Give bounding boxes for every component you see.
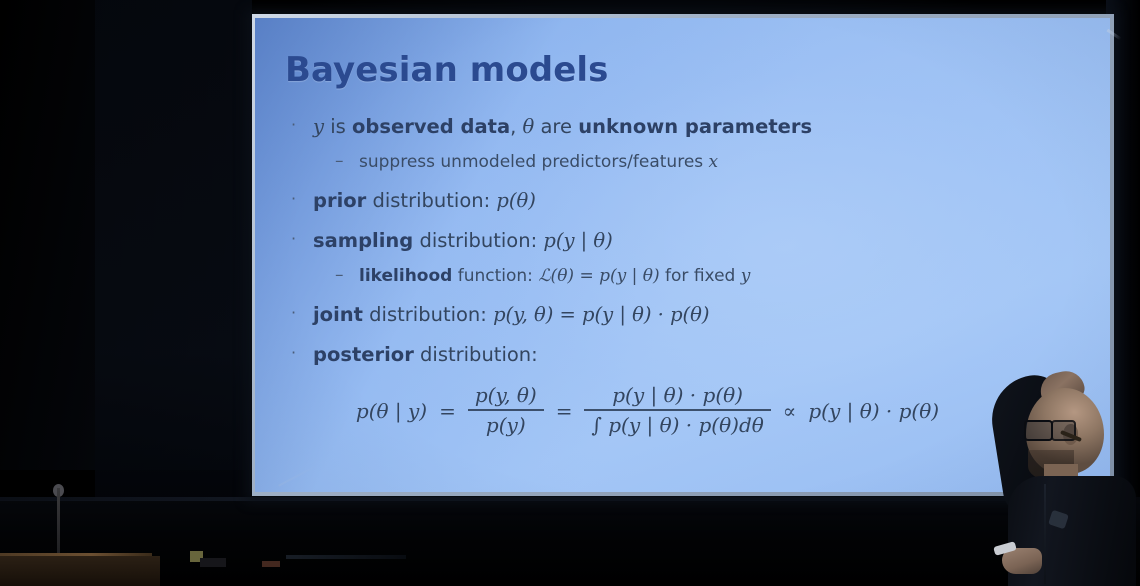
slide-title: Bayesian models: [285, 52, 1070, 89]
text-is: is: [324, 115, 352, 138]
bullet-marker-dot: ·: [291, 189, 296, 209]
bullet-marker-dash: –: [335, 151, 344, 172]
fraction-bar: [468, 409, 544, 411]
bullet-marker-dash: –: [335, 265, 344, 286]
formula-likelihood: ℒ(θ) = p(y | θ): [538, 266, 659, 286]
stage-ledge: [286, 555, 406, 559]
symbol-theta: θ: [523, 115, 535, 138]
proportional-sign: ∝: [782, 399, 798, 423]
bayes-theorem-equation: p(θ | y) = p(y, θ) p(y) = p(y | θ) · p(θ…: [285, 384, 1070, 438]
equation-lhs: p(θ | y): [356, 399, 427, 423]
symbol-x: x: [709, 152, 719, 172]
bullet-marker-dot: ·: [291, 343, 296, 363]
equals-sign-1: =: [438, 399, 457, 423]
stage-wall-panel: [95, 0, 250, 505]
jacket-zipper: [1044, 484, 1046, 584]
text-comma: ,: [510, 115, 522, 138]
text-are: are: [534, 115, 578, 138]
presentation-slide: Bayesian models · y is observed data, θ …: [255, 18, 1110, 492]
symbol-y: y: [313, 115, 324, 138]
glasses-lens-left: [1024, 420, 1053, 441]
subbullet-likelihood-function: – likelihood function: ℒ(θ) = p(y | θ) f…: [285, 266, 1070, 287]
equals-sign-2: =: [555, 399, 574, 423]
text-suppress: suppress unmodeled predictors/features: [359, 152, 709, 172]
formula-p-theta: p(θ): [496, 189, 535, 212]
slide-bullet-list: · y is observed data, θ are unknown para…: [285, 115, 1070, 367]
stage-floor: [0, 500, 1140, 586]
text-sampling: sampling: [313, 229, 413, 252]
fraction-likelihood-prior-over-integral: p(y | θ) · p(θ) ∫ p(y | θ) · p(θ)dθ: [584, 384, 770, 438]
subbullet-suppress-predictors: – suppress unmodeled predictors/features…: [285, 152, 1070, 173]
bullet-joint-distribution: · joint distribution: p(y, θ) = p(y | θ)…: [285, 303, 1070, 327]
text-likelihood: likelihood: [359, 266, 452, 286]
fraction-denominator: ∫ p(y | θ) · p(θ)dθ: [584, 411, 770, 438]
formula-joint: p(y, θ) = p(y | θ) · p(θ): [493, 303, 709, 326]
text-distribution: distribution:: [413, 229, 543, 252]
bullet-marker-dot: ·: [291, 229, 296, 249]
text-distribution: distribution:: [366, 189, 496, 212]
fraction-bar: [584, 409, 770, 411]
text-posterior: posterior: [313, 343, 414, 366]
formula-p-y-given-theta: p(y | θ): [543, 229, 612, 252]
fraction-denominator: p(y): [479, 411, 533, 438]
text-prior: prior: [313, 189, 366, 212]
stage-table: [0, 556, 160, 586]
equation-rhs: p(y | θ) · p(θ): [808, 399, 939, 423]
text-distribution: distribution:: [363, 303, 493, 326]
fraction-numerator: p(y, θ): [468, 384, 544, 410]
lecture-photo: Bayesian models · y is observed data, θ …: [0, 0, 1140, 586]
text-unknown-parameters: unknown parameters: [578, 115, 812, 138]
text-observed-data: observed data: [352, 115, 510, 138]
bullet-marker-dot: ·: [291, 303, 296, 323]
bullet-marker-dot: ·: [291, 115, 296, 135]
symbol-y: y: [741, 266, 751, 286]
text-function: function:: [452, 266, 538, 286]
bullet-posterior-distribution: · posterior distribution:: [285, 343, 1070, 367]
text-for-fixed: for fixed: [660, 266, 741, 286]
text-joint: joint: [313, 303, 363, 326]
text-distribution: distribution:: [414, 343, 538, 366]
fraction-joint-over-marginal: p(y, θ) p(y): [468, 384, 544, 438]
bullet-observed-data: · y is observed data, θ are unknown para…: [285, 115, 1070, 139]
stage-prop-red: [262, 561, 280, 567]
bullet-sampling-distribution: · sampling distribution: p(y | θ): [285, 229, 1070, 253]
bullet-prior-distribution: · prior distribution: p(θ): [285, 189, 1070, 213]
stage-prop-dark-box: [200, 558, 226, 567]
presenter: [988, 372, 1140, 586]
fraction-numerator: p(y | θ) · p(θ): [605, 384, 750, 410]
